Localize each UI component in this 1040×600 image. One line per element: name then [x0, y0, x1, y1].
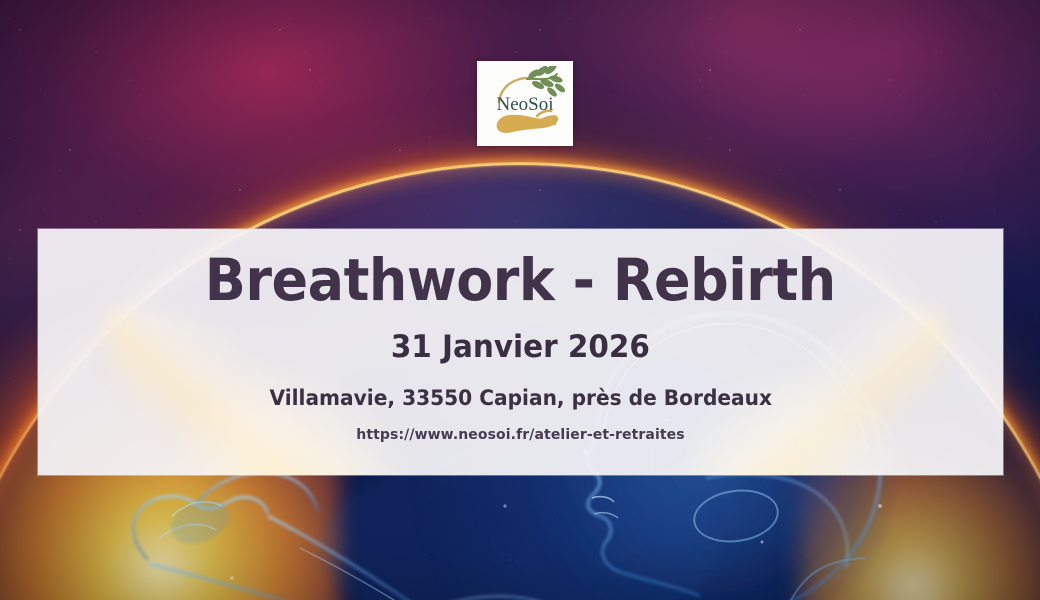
event-date: 31 Janvier 2026	[391, 329, 650, 365]
event-poster: NeoSoi Breathwork - Rebirth 31 Janvier 2…	[0, 0, 1040, 600]
event-url-link[interactable]: https://www.neosoi.fr/atelier-et-retrait…	[356, 427, 684, 443]
content-panel: Breathwork - Rebirth 31 Janvier 2026 Vil…	[38, 229, 1003, 475]
neosoi-logo-icon: NeoSoi	[481, 66, 569, 142]
neosoi-logo-badge[interactable]: NeoSoi	[477, 61, 573, 146]
event-title: Breathwork - Rebirth	[205, 251, 836, 310]
event-location: Villamavie, 33550 Capian, près de Bordea…	[269, 386, 772, 410]
